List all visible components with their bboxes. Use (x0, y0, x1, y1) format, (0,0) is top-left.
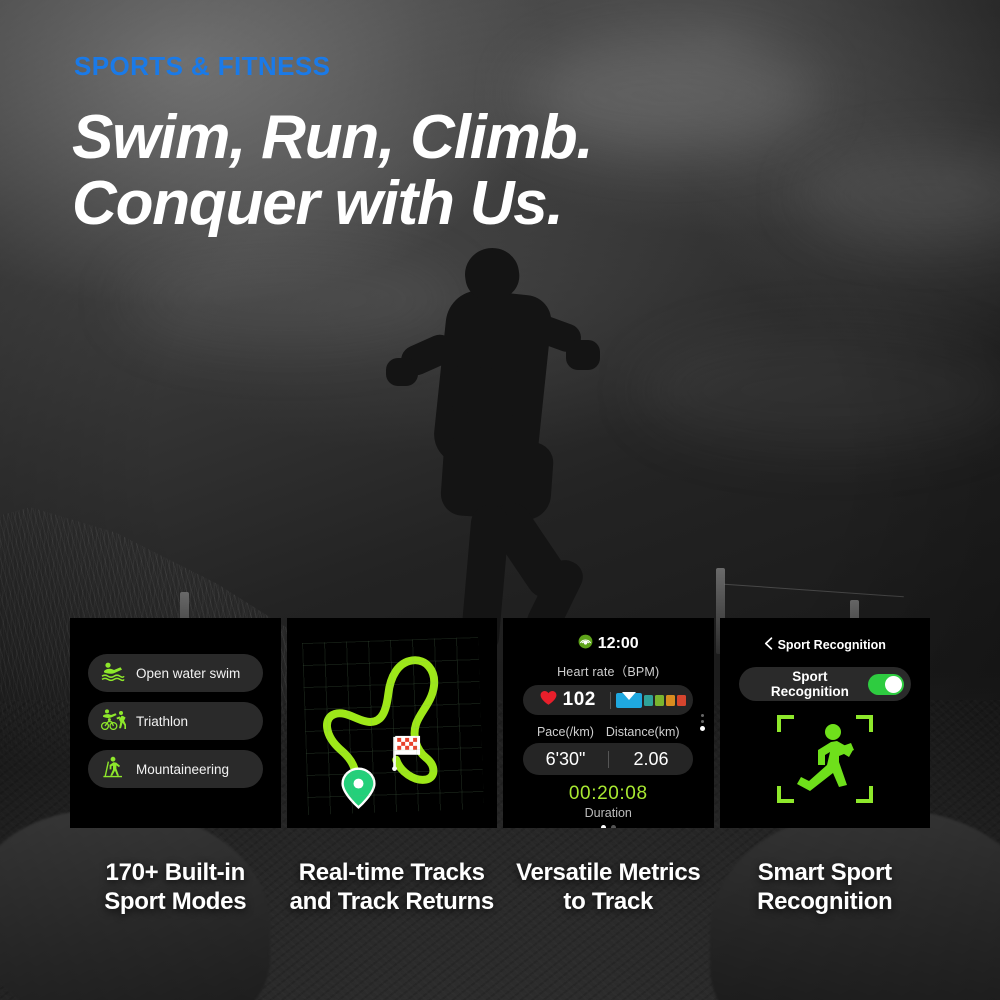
hr-zone (677, 695, 686, 706)
status-bar: 12:00 (503, 634, 714, 654)
heart-icon (540, 690, 557, 711)
toggle-label: Sport Recognition (752, 669, 868, 699)
watch-metrics-screen: 12:00 Heart rate（BPM) 102 (503, 618, 714, 828)
pace-distance-row[interactable]: 6'30" 2.06 (523, 743, 693, 775)
pace-value: 6'30" (523, 749, 608, 770)
card-versatile-metrics: 12:00 Heart rate（BPM) 102 (503, 618, 714, 828)
hr-zone (666, 695, 675, 706)
feature-card-row: Open water swim (70, 618, 930, 828)
map-grid (302, 637, 484, 815)
heart-rate-value: 102 (563, 689, 596, 711)
mountaineering-icon (100, 756, 126, 783)
duration-value: 00:20:08 (503, 783, 714, 805)
caption-line-2: Sport Modes (70, 887, 281, 916)
caption-smart-sport-recognition: Smart Sport Recognition (720, 858, 931, 938)
gps-signal-icon (578, 634, 593, 654)
sport-mode-label: Triathlon (136, 714, 188, 729)
page-title: Swim, Run, Climb. Conquer with Us. (72, 105, 812, 238)
duration-label: Duration (503, 806, 714, 820)
caption-line-1: Versatile Metrics (503, 858, 714, 887)
vertical-scroll-indicator[interactable] (700, 714, 705, 731)
scan-corner-bottom-right (856, 786, 873, 803)
pace-label: Pace(/km) (537, 725, 594, 739)
scan-corner-top-right (856, 715, 873, 732)
heart-rate-zone-bar (611, 693, 691, 708)
scroll-dot (701, 720, 704, 723)
hr-zone-active (616, 693, 642, 708)
caption-line-2: and Track Returns (287, 887, 498, 916)
page-dot (611, 825, 616, 828)
sport-recognition-toggle[interactable] (868, 674, 904, 695)
headline-line-2: Conquer with Us. (72, 171, 812, 237)
chevron-left-icon[interactable] (764, 637, 773, 653)
sport-mode-item-triathlon[interactable]: Triathlon (88, 702, 263, 740)
page-indicator (503, 825, 714, 828)
promo-banner: SPORTS & FITNESS Swim, Run, Climb. Conqu… (0, 0, 1000, 1000)
sport-mode-label: Open water swim (136, 666, 240, 681)
gps-route-map (287, 618, 498, 828)
sport-recognition-setting-row[interactable]: Sport Recognition (739, 667, 911, 701)
sport-mode-label: Mountaineering (136, 762, 229, 777)
triathlon-icon (100, 708, 126, 735)
heart-rate-value-group: 102 (526, 689, 610, 711)
scan-corner-top-left (777, 715, 794, 732)
watch-sport-recognition-screen: Sport Recognition Sport Recognition (720, 618, 931, 828)
screen-header: Sport Recognition (720, 637, 931, 653)
card-sport-modes: Open water swim (70, 618, 281, 828)
card-realtime-track (287, 618, 498, 828)
caption-line-1: Smart Sport (720, 858, 931, 887)
caption-line-1: 170+ Built-in (70, 858, 281, 887)
heart-rate-label: Heart rate（BPM) (503, 661, 714, 680)
sport-mode-item-open-water-swim[interactable]: Open water swim (88, 654, 263, 692)
screen-title: Sport Recognition (778, 638, 886, 652)
page-dot (601, 825, 606, 828)
caption-line-2: Recognition (720, 887, 931, 916)
runner-silhouette (370, 240, 660, 660)
card-smart-sport-recognition: Sport Recognition Sport Recognition (720, 618, 931, 828)
scan-corner-bottom-left (777, 786, 794, 803)
hr-zone (655, 695, 664, 706)
cloud-wisp (640, 330, 1000, 450)
caption-line-1: Real-time Tracks (287, 858, 498, 887)
hr-zone (644, 695, 653, 706)
heart-rate-row[interactable]: 102 (523, 685, 693, 715)
caption-sport-modes: 170+ Built-in Sport Modes (70, 858, 281, 938)
clock-time: 12:00 (598, 635, 639, 653)
sport-mode-item-mountaineering[interactable]: Mountaineering (88, 750, 263, 788)
open-water-swim-icon (100, 660, 126, 687)
distance-value: 2.06 (609, 749, 694, 770)
pace-distance-labels: Pace(/km) Distance(km) (503, 725, 714, 739)
distance-label: Distance(km) (606, 725, 680, 739)
scroll-dot (701, 714, 704, 717)
sport-scan-frame (777, 715, 873, 803)
caption-versatile-metrics: Versatile Metrics to Track (503, 858, 714, 938)
caption-realtime-track: Real-time Tracks and Track Returns (287, 858, 498, 938)
caption-line-2: to Track (503, 887, 714, 916)
sport-mode-list: Open water swim (88, 654, 263, 788)
headline-line-1: Swim, Run, Climb. (72, 105, 812, 171)
caption-row: 170+ Built-in Sport Modes Real-time Trac… (70, 858, 930, 938)
scroll-dot-active (700, 726, 705, 731)
eyebrow-label: SPORTS & FITNESS (74, 51, 330, 82)
